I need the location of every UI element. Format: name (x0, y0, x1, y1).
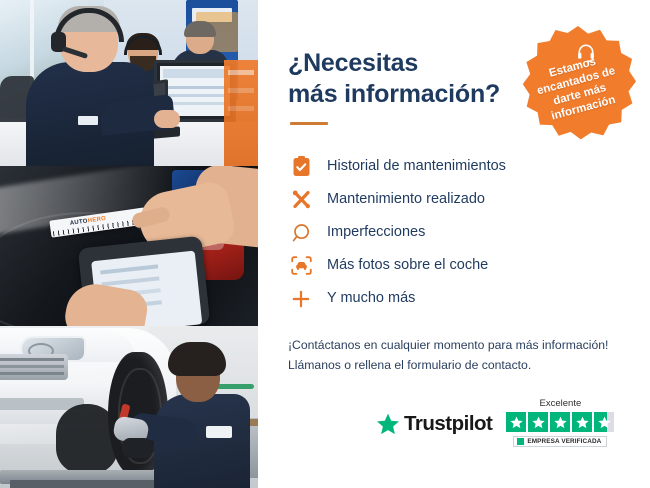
feature-item-fotos: Más fotos sobre el coche (288, 249, 622, 282)
orange-divider-object (224, 60, 258, 166)
feature-label: Imperfecciones (327, 225, 425, 240)
feature-label: Y mucho más (327, 291, 415, 306)
car-scan-icon (288, 255, 314, 277)
headline-underline (290, 122, 328, 125)
trustpilot-stars (506, 412, 614, 432)
foreground-agent (26, 6, 154, 166)
verified-company-badge: EMPRESA VERIFICADA (513, 436, 607, 447)
information-banner: AUTOHERO (0, 0, 650, 488)
star-box (506, 412, 526, 432)
trustpilot-star-icon (376, 412, 400, 436)
photo-column: AUTOHERO (0, 0, 258, 488)
feature-item-mas: Y mucho más (288, 282, 622, 315)
page-title: ¿Necesitas más información? (288, 48, 518, 109)
content-panel: ¿Necesitas más información? Estamos enca… (258, 0, 650, 488)
star-box (572, 412, 592, 432)
feature-item-imperfecciones: Imperfecciones (288, 216, 622, 249)
headline-line-2: más información? (288, 80, 500, 108)
car-inspection-ruler-photo: AUTOHERO (0, 166, 258, 326)
tools-cross-icon (288, 189, 314, 211)
car-lift-base (10, 480, 160, 488)
plus-icon (288, 288, 314, 310)
verified-label: EMPRESA VERIFICADA (527, 438, 601, 445)
call-center-agents-photo (0, 0, 258, 166)
headline-line-1: ¿Necesitas (288, 49, 418, 77)
contact-line-1: ¡Contáctanos en cualquier momento para m… (288, 338, 608, 352)
magnifier-icon (288, 222, 314, 244)
mechanic (148, 342, 252, 488)
feature-item-mantenimiento: Mantenimiento realizado (288, 183, 622, 216)
star-box-partial (594, 412, 614, 432)
contact-line-2: Llámanos o rellena el formulario de cont… (288, 358, 531, 372)
feature-label: Historial de mantenimientos (327, 159, 506, 174)
star-box (528, 412, 548, 432)
trustpilot-logo[interactable]: Trustpilot (376, 412, 492, 436)
trustpilot-rating-label: Excelente (506, 398, 614, 409)
star-box (550, 412, 570, 432)
feature-list: Historial de mantenimientos Mantenimient… (288, 150, 622, 315)
clipboard-check-icon (288, 156, 314, 178)
trustpilot-rating[interactable]: Trustpilot Excelente (376, 398, 614, 450)
mechanic-wheel-photo (0, 326, 258, 488)
check-icon (517, 438, 524, 445)
contact-paragraph: ¡Contáctanos en cualquier momento para m… (288, 336, 622, 376)
trustpilot-wordmark: Trustpilot (404, 412, 492, 436)
feature-label: Mantenimiento realizado (327, 192, 485, 207)
promo-badge: Estamos encantados de darte más informac… (520, 26, 636, 142)
feature-label: Más fotos sobre el coche (327, 258, 488, 273)
trustpilot-score-block: Excelente (506, 398, 614, 450)
feature-item-historial: Historial de mantenimientos (288, 150, 622, 183)
